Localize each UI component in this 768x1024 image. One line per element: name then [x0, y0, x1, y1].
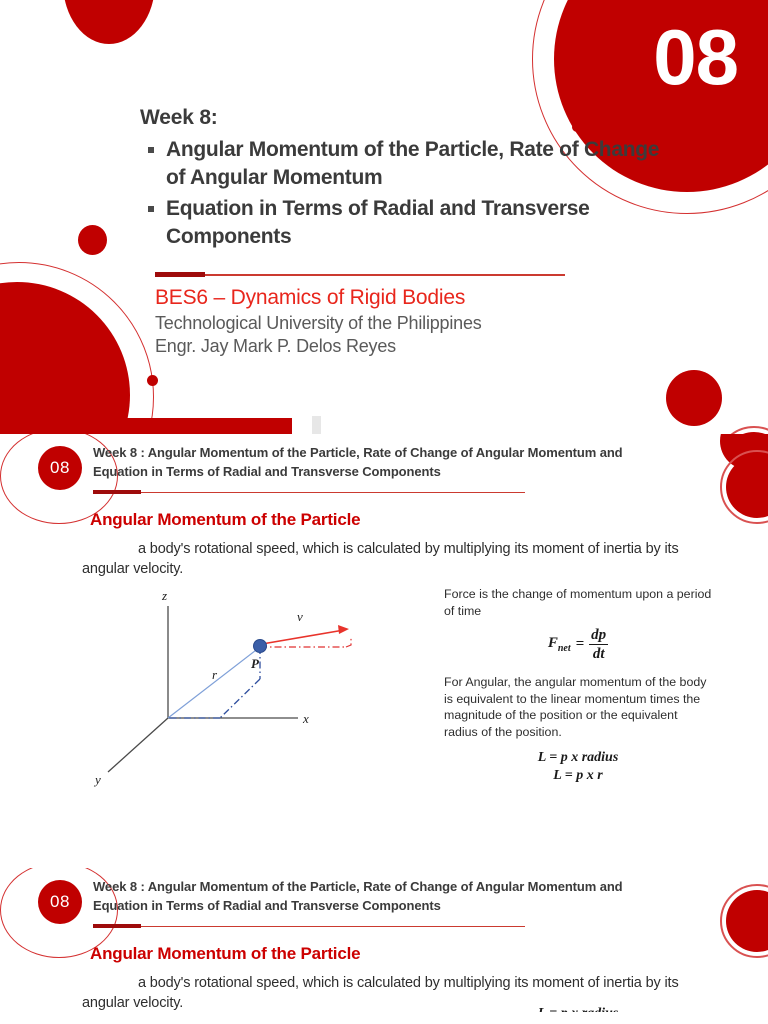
- decorative-circle-bottom-left: [0, 282, 130, 434]
- explanation-column: Force is the change of momentum upon a p…: [444, 586, 712, 784]
- decorative-ring-header-right: [720, 450, 768, 524]
- decorative-ring-bottom-left: [0, 262, 154, 434]
- fraction-denominator: dt: [589, 645, 608, 662]
- svg-text:x: x: [302, 711, 309, 726]
- decorative-circle-header-right: [720, 434, 768, 470]
- header-divider-thin: [93, 926, 525, 927]
- title-slide: 08 Week 8: Angular Momentum of the Parti…: [0, 0, 768, 434]
- decorative-bar-bottom-left: [0, 418, 292, 434]
- organization-name: Technological University of the Philippi…: [155, 312, 615, 335]
- course-title: BES6 – Dynamics of Rigid Bodies: [155, 285, 615, 312]
- week-label: Week 8:: [140, 106, 680, 130]
- title-text-block: Week 8: Angular Momentum of the Particle…: [140, 106, 680, 254]
- section-heading: Angular Momentum of the Particle: [90, 944, 360, 964]
- header-divider: [93, 490, 673, 496]
- author-name: Engr. Jay Mark P. Delos Reyes: [155, 335, 615, 358]
- slide-header-text: Week 8 : Angular Momentum of the Particl…: [93, 878, 673, 916]
- decorative-circle-header-right-2: [726, 890, 768, 952]
- slide-number-badge-small: 08: [38, 446, 82, 490]
- slide-header-text: Week 8 : Angular Momentum of the Particl…: [93, 444, 673, 482]
- topic-bullet-item: Angular Momentum of the Particle, Rate o…: [140, 136, 680, 192]
- decorative-bar-bottom-accent: [312, 416, 321, 434]
- decorative-circle-right: [666, 370, 722, 426]
- svg-text:y: y: [93, 772, 101, 787]
- equation-force-net: Fnet = dp dt: [444, 627, 712, 662]
- equation-fraction: dp dt: [589, 627, 608, 662]
- section-body: a body's rotational speed, which is calc…: [82, 540, 722, 579]
- decorative-circle-top-left: [63, 0, 155, 44]
- angular-explanation: For Angular, the angular momentum of the…: [444, 674, 712, 740]
- decorative-ring-bottom-right: [716, 426, 768, 434]
- decorative-circle-header-right-2: [726, 456, 768, 518]
- angular-momentum-diagram: z x y P r v: [70, 584, 430, 799]
- header-divider-thick: [93, 924, 141, 928]
- slide-header: Week 8 : Angular Momentum of the Particl…: [93, 878, 673, 930]
- content-slide-2: 08 Week 8 : Angular Momentum of the Part…: [0, 868, 768, 1012]
- header-divider: [93, 924, 673, 930]
- slide-header: Week 8 : Angular Momentum of the Particl…: [93, 444, 673, 496]
- divider-thin-line: [155, 274, 565, 276]
- decorative-ring-header-right: [720, 884, 768, 958]
- topic-bullet-item: Equation in Terms of Radial and Transver…: [140, 195, 680, 251]
- header-divider-thin: [93, 492, 525, 493]
- section-heading: Angular Momentum of the Particle: [90, 510, 360, 530]
- svg-text:P: P: [251, 656, 260, 671]
- title-divider: [155, 272, 615, 278]
- equation-lhs: Fnet: [548, 635, 571, 654]
- equation-operator: =: [576, 636, 585, 653]
- slide-number-badge: 08: [653, 18, 738, 96]
- decorative-circle-left-small: [78, 225, 107, 255]
- force-explanation: Force is the change of momentum upon a p…: [444, 586, 712, 619]
- slide-number-badge-small: 08: [38, 880, 82, 924]
- topic-bullet-list: Angular Momentum of the Particle, Rate o…: [140, 136, 680, 251]
- equation-angular-momentum-2: L = p x r: [444, 768, 712, 784]
- subtitle-block: BES6 – Dynamics of Rigid Bodies Technolo…: [155, 272, 615, 359]
- decorative-dot-lower: [147, 375, 158, 386]
- equation-angular-momentum-1: L = p x radius: [444, 1006, 712, 1012]
- svg-text:v: v: [297, 609, 303, 624]
- equation-lhs-subscript: net: [558, 643, 571, 654]
- equation-angular-momentum-1: L = p x radius: [444, 750, 712, 766]
- divider-thick-accent: [155, 272, 205, 277]
- header-divider-thick: [93, 490, 141, 494]
- section-body-text: a body's rotational speed, which is calc…: [82, 541, 679, 577]
- fraction-numerator: dp: [589, 627, 608, 645]
- equation-lhs-symbol: F: [548, 635, 558, 651]
- svg-text:z: z: [161, 588, 167, 603]
- content-slide-1: 08 Week 8 : Angular Momentum of the Part…: [0, 434, 768, 868]
